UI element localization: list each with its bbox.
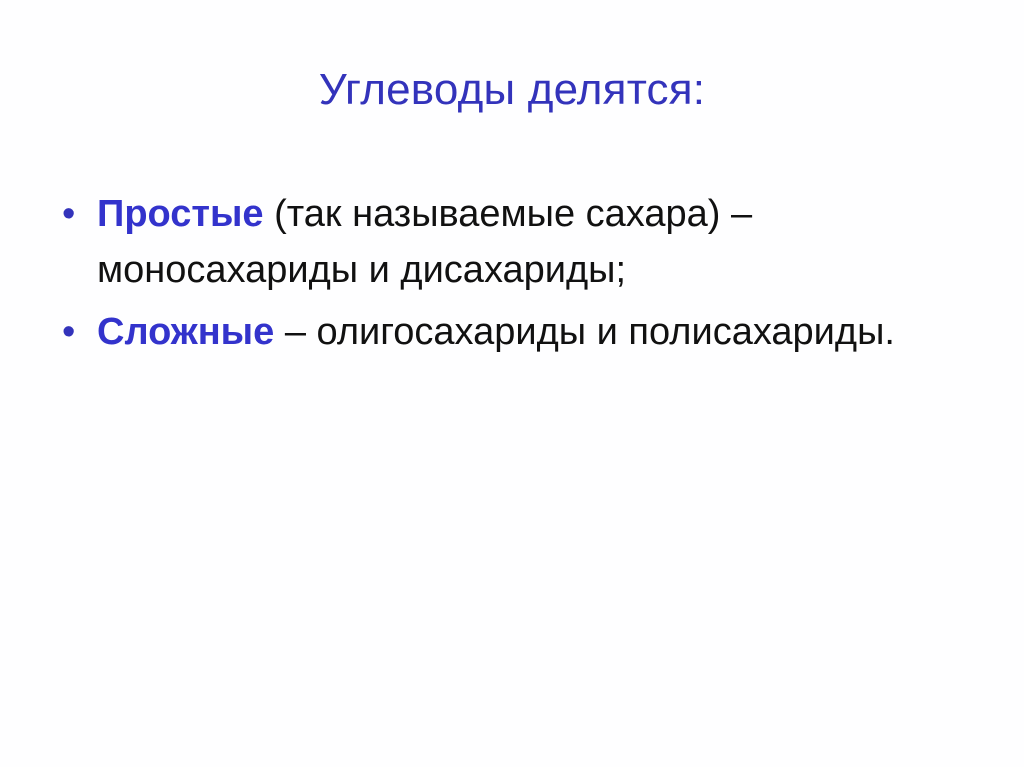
list-item-description: – олигосахариды и полисахариды. — [274, 311, 895, 353]
list-item: • Сложные – олигосахариды и полисахариды… — [52, 304, 952, 360]
list-item-term: Простые — [97, 193, 264, 235]
list-item-text: Сложные – олигосахариды и полисахариды. — [97, 304, 952, 360]
bullet-point-icon: • — [52, 186, 97, 242]
list-item: • Простые (так называемые сахара) – моно… — [52, 186, 952, 298]
slide-canvas: Углеводы делятся: • Простые (так называе… — [0, 0, 1024, 767]
list-item-text: Простые (так называемые сахара) – моноса… — [97, 186, 952, 298]
bullet-point-icon: • — [52, 304, 97, 360]
bullet-list: • Простые (так называемые сахара) – моно… — [52, 186, 952, 366]
page-title: Углеводы делятся: — [0, 64, 1024, 116]
list-item-term: Сложные — [97, 311, 274, 353]
